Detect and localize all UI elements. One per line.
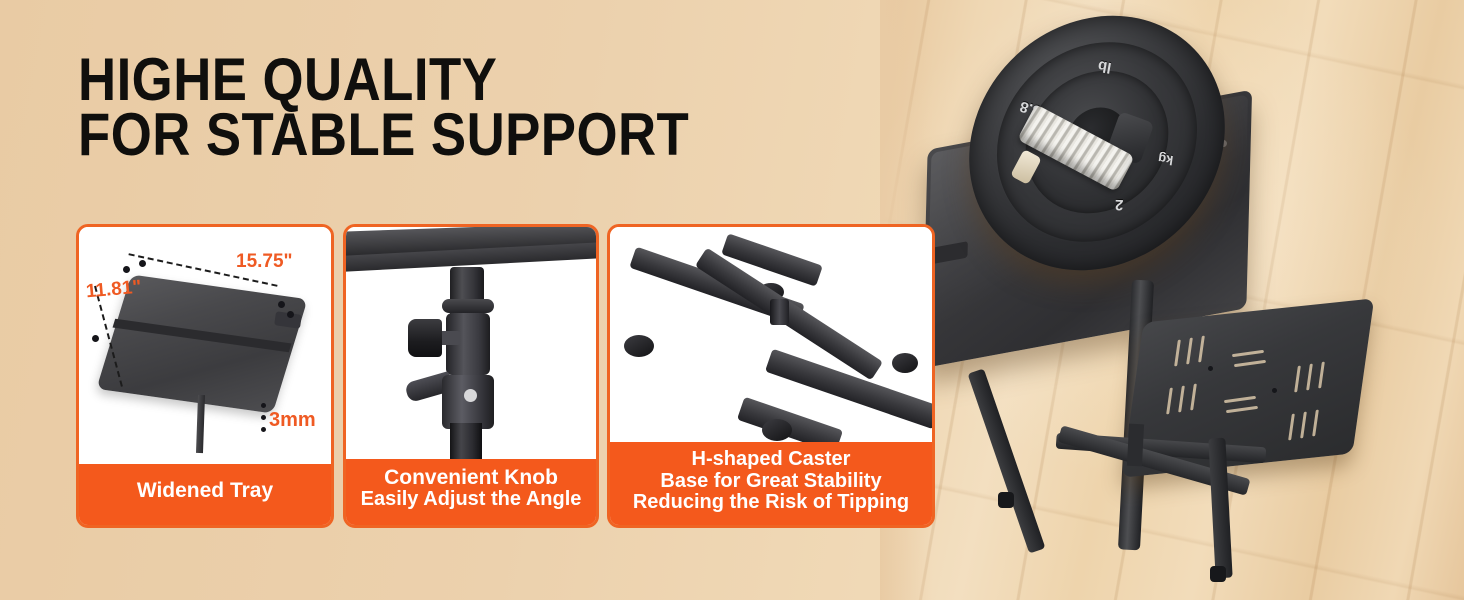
caption-line-1: Convenient Knob [350, 467, 592, 490]
feature-card-caption: Convenient Knob Easily Adjust the Angle [346, 459, 596, 525]
shelf-screw [1208, 366, 1213, 371]
page-title: HIGHE QUALITY FOR STABLE SUPPORT [78, 52, 838, 162]
base-column-socket [770, 299, 789, 325]
feature-card-caption: H-shaped Caster Base for Great Stability… [610, 442, 932, 525]
knob-lower-tube [450, 423, 482, 459]
feature-card-h-shaped-caster[interactable]: H-shaped Caster Base for Great Stability… [607, 224, 935, 528]
measure-endpoint-dot [123, 266, 130, 273]
height-clamp [442, 375, 494, 429]
headline-line-1: HIGHE QUALITY [78, 52, 747, 107]
clamp-pin-hole [464, 389, 477, 402]
weight-plate-kg-unit: kg [1157, 151, 1174, 168]
measure-endpoint-dot [92, 335, 99, 342]
caster-base-illustration [610, 227, 932, 442]
base-caster-wheel [1210, 566, 1226, 582]
caster-wheel [762, 419, 792, 441]
caption-line-1: H-shaped Caster [614, 449, 928, 471]
feature-card-caption: Widened Tray [79, 464, 331, 525]
feature-card-widened-tray[interactable]: 11.81" 15.75" 3mm Widened Tray [76, 224, 334, 528]
caption-line-2: Base for Great Stability [614, 471, 928, 493]
measure-endpoint-dot [287, 311, 294, 318]
thickness-marker-dot [261, 427, 266, 432]
weight-plate-kg-value: 2 [1115, 196, 1124, 213]
caster-wheel [624, 335, 654, 357]
measure-endpoint-dot [278, 301, 285, 308]
headline-line-2: FOR STABLE SUPPORT [78, 107, 747, 162]
thickness-marker-dot [261, 403, 266, 408]
thickness-marker-dot [261, 415, 266, 420]
knob-collar-ring [442, 299, 494, 313]
caster-wheel [892, 353, 918, 373]
shelf-screw [1272, 388, 1277, 393]
adjustment-knob [408, 319, 442, 357]
feature-card-convenient-knob[interactable]: Convenient Knob Easily Adjust the Angle [343, 224, 599, 528]
dimension-label-thickness: 3mm [269, 409, 316, 432]
dimension-label-length: 15.75" [236, 251, 293, 273]
measure-endpoint-dot [139, 260, 146, 267]
base-caster-wheel [998, 492, 1014, 508]
product-photo: 8.8 lb 2 kg [880, 0, 1464, 600]
caption-line-3: Reducing the Risk of Tipping [614, 492, 928, 514]
tray-support-post [196, 395, 205, 453]
knob-illustration [346, 227, 596, 459]
caption-line-2: Easily Adjust the Angle [350, 489, 592, 511]
base-center-joint [1127, 424, 1144, 467]
caption-line-1: Widened Tray [83, 480, 327, 503]
product-feature-banner: 8.8 lb 2 kg HIGHE QU [0, 0, 1464, 600]
widened-tray-illustration: 11.81" 15.75" 3mm [79, 227, 331, 464]
